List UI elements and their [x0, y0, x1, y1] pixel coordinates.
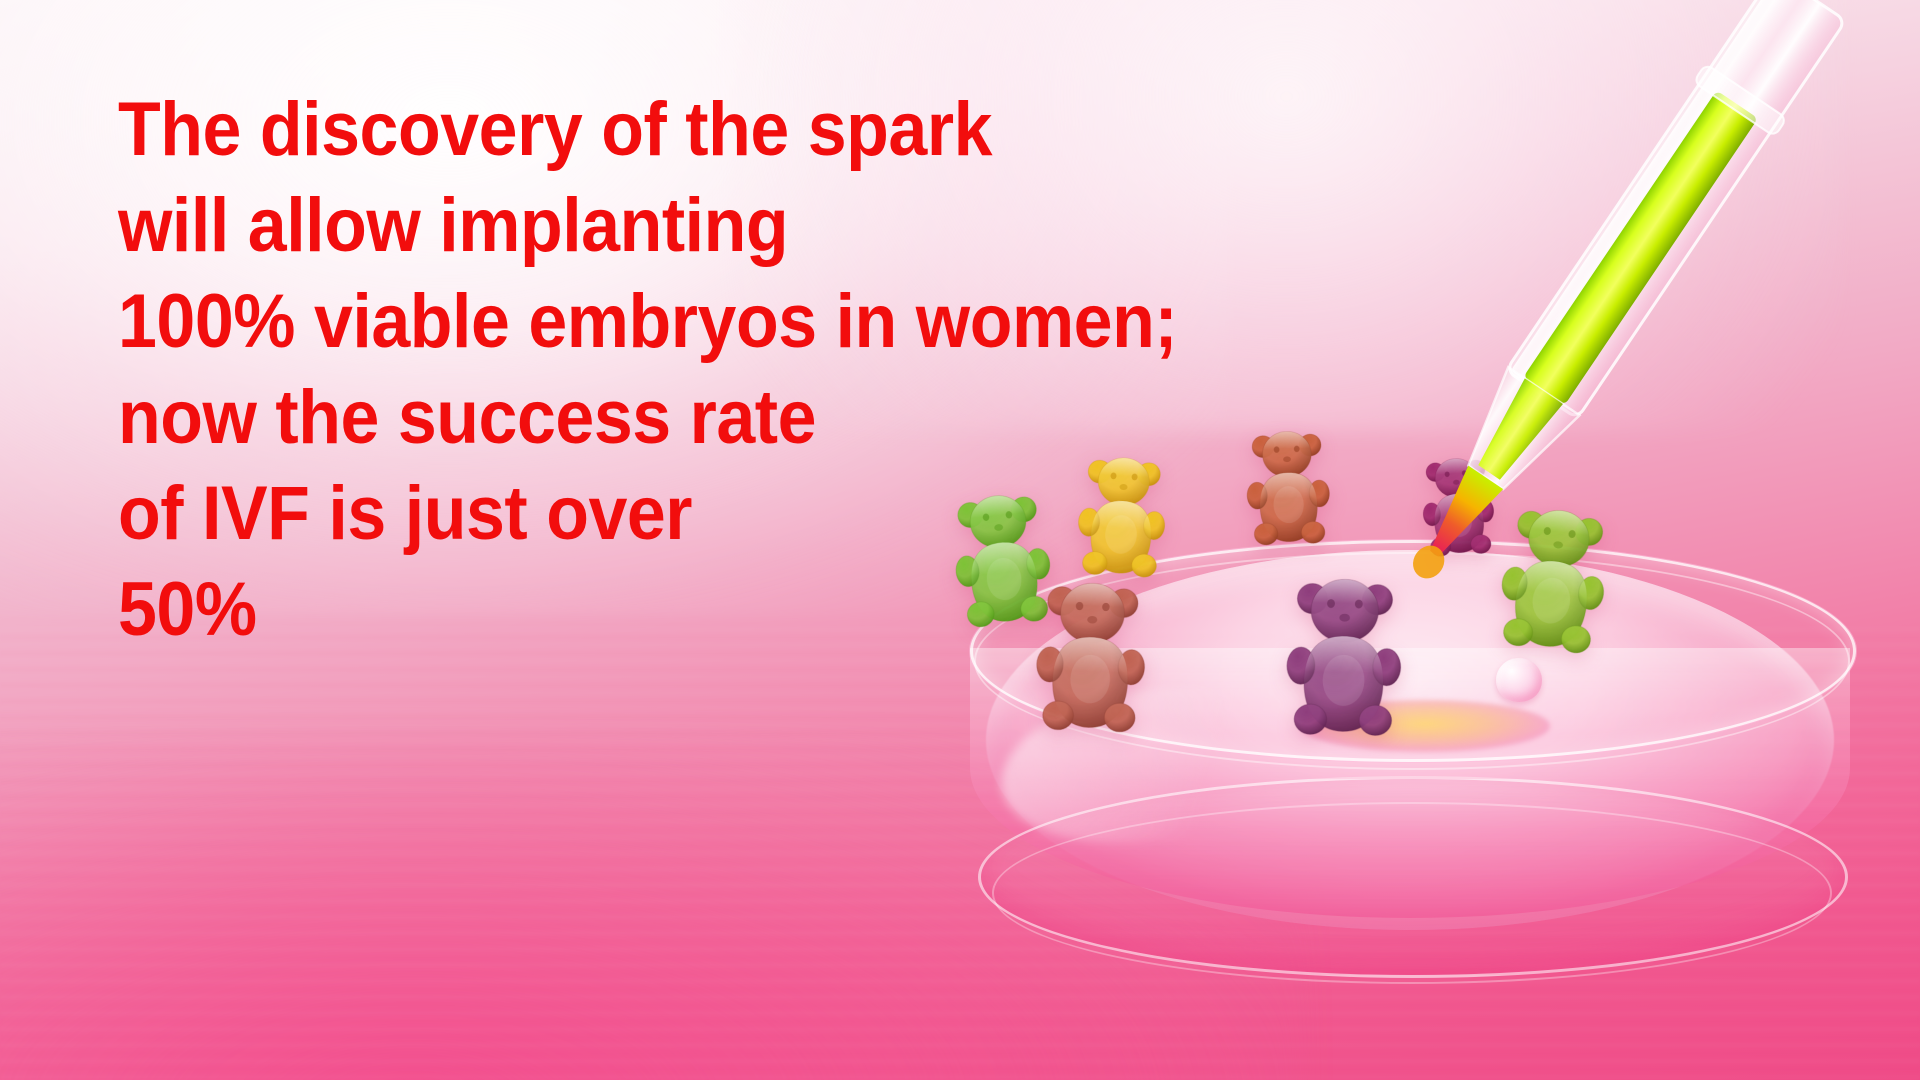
headline-line-6-statistic: 50% — [118, 562, 1148, 658]
headline-line-3: 100% viable embryos in women; — [118, 274, 1148, 370]
gummy-bear-purple-bear — [1284, 567, 1403, 745]
headline-block: The discovery of the spark will allow im… — [118, 82, 1238, 658]
gummy-bear-orange-amber-bear — [1244, 421, 1332, 554]
gummy-bear-magenta-bear — [1418, 448, 1498, 565]
headline-line-4: now the success rate — [118, 370, 1148, 466]
gummy-bear-yellow-green-bear — [1493, 494, 1615, 663]
editorial-poster: The discovery of the spark will allow im… — [0, 0, 1920, 1080]
water-droplet — [1496, 658, 1542, 702]
headline-line-2: will allow implanting — [118, 178, 1148, 274]
headline-line-1: The discovery of the spark — [118, 82, 1148, 178]
headline-line-5: of IVF is just over — [118, 466, 1148, 562]
